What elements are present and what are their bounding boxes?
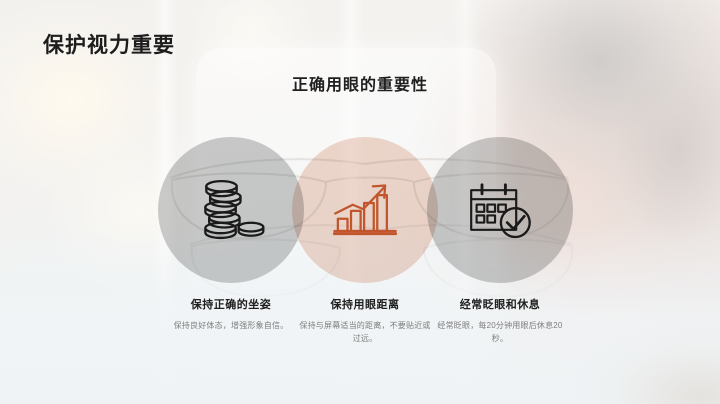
card-description-3: 经常眨眼，每20分钟用眼后休息20秒。 xyxy=(425,319,575,345)
card-title-1: 保持正确的坐姿 xyxy=(156,296,306,312)
card-description-1: 保持良好体态，增强形象自信。 xyxy=(156,319,306,332)
card-caption-1: 保持正确的坐姿 保持良好体态，增强形象自信。 xyxy=(156,296,306,332)
calendar-check-icon xyxy=(427,137,573,283)
coin-stack-icon xyxy=(158,137,304,283)
card-caption-2: 保持用眼距离 保持与屏幕适当的距离，不要贴近或过远。 xyxy=(290,296,440,345)
card-title-2: 保持用眼距离 xyxy=(290,296,440,312)
card-title-3: 经常眨眼和休息 xyxy=(425,296,575,312)
slide-title: 保护视力重要 xyxy=(43,29,175,59)
slide-subtitle: 正确用眼的重要性 xyxy=(0,71,720,95)
card-description-2: 保持与屏幕适当的距离，不要贴近或过远。 xyxy=(290,319,440,345)
presentation-slide: 保护视力重要 正确用眼的重要性 xyxy=(0,0,720,404)
card-caption-3: 经常眨眼和休息 经常眨眼，每20分钟用眼后休息20秒。 xyxy=(425,296,575,345)
growth-bar-chart-icon xyxy=(292,137,438,283)
